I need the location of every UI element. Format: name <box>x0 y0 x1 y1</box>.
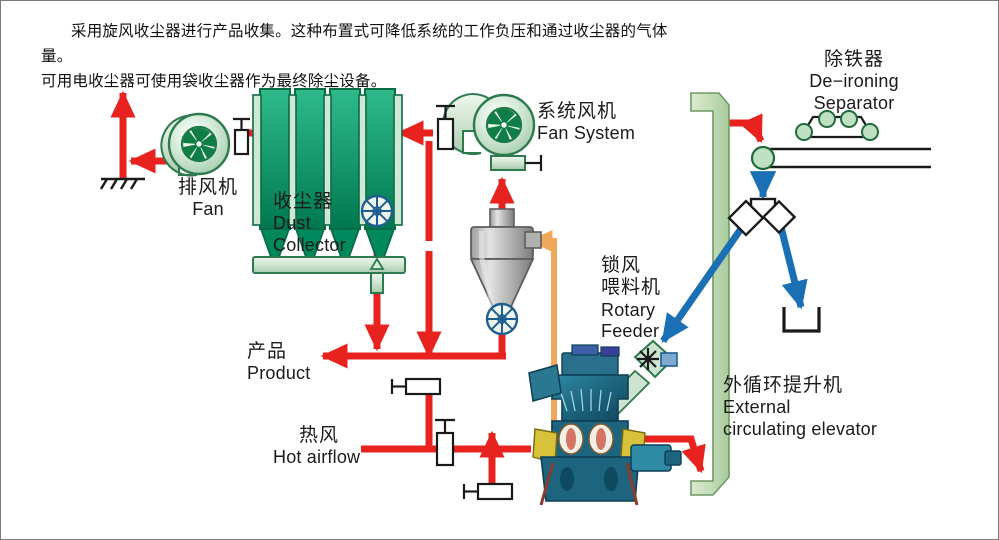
label-dust-collector-en-1: Dust <box>273 213 403 234</box>
label-dust-collector-en-2: Collector <box>273 235 403 256</box>
damper-valve-mill-inlet <box>464 484 512 499</box>
label-rotary-feeder-cn-1: 锁风 <box>601 255 701 277</box>
label-fan-system-cn: 系统风机 <box>537 101 687 123</box>
collector-screw-conveyor <box>253 257 405 273</box>
label-rotary-feeder: 锁风 喂料机 Rotary Feeder <box>601 255 701 342</box>
label-hot-airflow: 热风 Hot airflow <box>273 425 403 469</box>
cyclone-separator <box>471 209 541 311</box>
label-rotary-feeder-en-2: Feeder <box>601 321 701 342</box>
de-ironing-separator <box>752 111 931 169</box>
label-elevator-cn: 外循环提升机 <box>723 375 913 397</box>
label-exhaust-fan-cn: 排风机 <box>153 177 263 199</box>
collection-bin <box>784 307 819 331</box>
label-exhaust-fan: 排风机 Fan <box>153 177 263 221</box>
label-de-ironing-separator: 除铁器 De−ironing Separator <box>779 49 929 114</box>
exhaust-fan <box>161 114 229 176</box>
label-fan-system-en: Fan System <box>537 123 687 144</box>
cyclone-tangential-inlet <box>525 232 541 248</box>
label-de-ironing-en-1: De−ironing <box>779 71 929 92</box>
label-product-cn: 产品 <box>247 341 357 363</box>
label-product: 产品 Product <box>247 341 357 385</box>
mill-drive-unit <box>601 347 619 356</box>
feeder-drive <box>661 353 677 366</box>
cyclone-vortex-finder <box>490 209 514 227</box>
diverter-to-bin-line <box>780 223 801 307</box>
label-rotary-feeder-cn-2: 喂料机 <box>601 277 701 299</box>
system-fan-inlet-box <box>491 156 525 170</box>
damper-valve-fan-inlet <box>233 119 250 154</box>
magnet-rollers <box>796 111 878 140</box>
system-fan-shaft <box>501 122 508 129</box>
mill-classifier-motor <box>572 345 598 355</box>
label-external-elevator: 外循环提升机 External circulating elevator <box>723 375 913 440</box>
label-hot-airflow-en: Hot airflow <box>273 447 403 468</box>
cyclone-airlock-valve <box>487 304 517 334</box>
mill-base <box>541 457 639 501</box>
damper-valve-product-line <box>392 379 440 394</box>
ground-symbol <box>101 179 145 189</box>
mill-separator-body <box>552 375 628 421</box>
label-elevator-en-1: External <box>723 397 913 418</box>
label-de-ironing-cn: 除铁器 <box>779 49 929 71</box>
diagram-canvas: 采用旋风收尘器进行产品收集。这种布置式可降低系统的工作负压和通过收尘器的气体量。… <box>0 0 999 540</box>
system-fan <box>443 94 541 171</box>
label-dust-collector: 收尘器 Dust Collector <box>273 191 403 256</box>
label-dust-collector-cn: 收尘器 <box>273 191 403 213</box>
label-product-en: Product <box>247 363 357 384</box>
label-hot-airflow-cn: 热风 <box>273 425 365 447</box>
label-fan-system: 系统风机 Fan System <box>537 101 687 145</box>
damper-valve-hot-air-main <box>435 420 455 465</box>
label-elevator-en-2: circulating elevator <box>723 419 913 440</box>
collector-discharge-chute <box>371 273 383 293</box>
label-exhaust-fan-en: Fan <box>153 199 263 220</box>
mill-motor <box>665 451 681 465</box>
fan-shaft-center <box>196 141 203 148</box>
conveyor-pulley <box>752 147 774 169</box>
feeder-rotor-star <box>637 348 659 370</box>
label-de-ironing-en-2: Separator <box>779 93 929 114</box>
label-rotary-feeder-en-1: Rotary <box>601 300 701 321</box>
